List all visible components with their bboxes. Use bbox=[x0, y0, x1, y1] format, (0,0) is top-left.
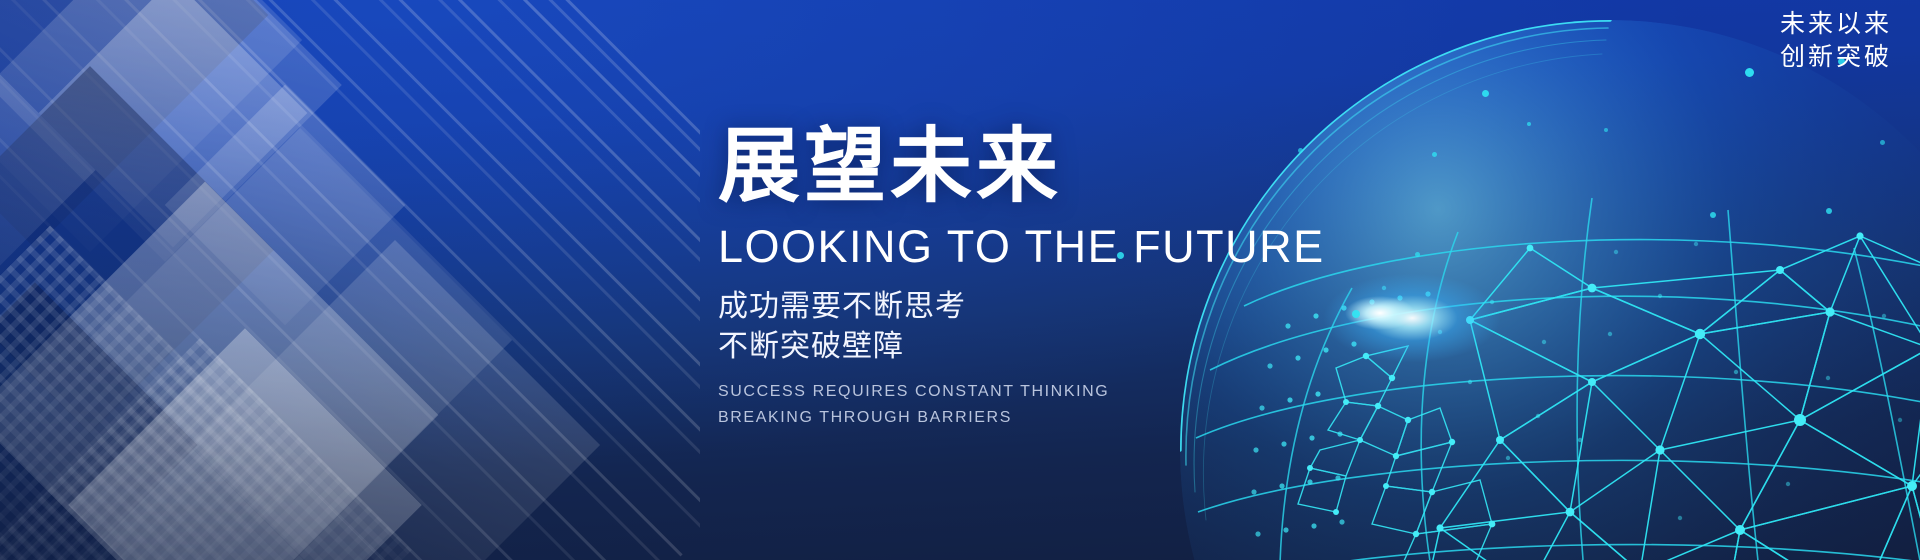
tagline-cn-line1: 成功需要不断思考 bbox=[718, 287, 1478, 327]
particle-dot bbox=[1710, 212, 1716, 218]
corner-slogan-line2: 创新突破 bbox=[1780, 41, 1892, 74]
tagline-en-block: SUCCESS REQUIRES CONSTANT THINKING BREAK… bbox=[718, 379, 1478, 432]
particle-dot bbox=[1527, 122, 1531, 126]
particle-dot bbox=[1880, 140, 1885, 145]
page-subtitle-en: LOOKING TO THE FUTURE bbox=[718, 224, 1478, 269]
corner-slogan-line1: 未来以来 bbox=[1780, 8, 1892, 41]
tagline-en-line2: BREAKING THROUGH BARRIERS bbox=[718, 405, 1478, 431]
particle-dot bbox=[1482, 90, 1489, 97]
corner-slogan: 未来以来 创新突破 bbox=[1780, 8, 1892, 74]
particle-dot bbox=[1826, 208, 1832, 214]
page-title: 展望未来 bbox=[718, 126, 1478, 208]
particle-dot bbox=[1745, 68, 1754, 77]
tagline-en-line1: SUCCESS REQUIRES CONSTANT THINKING bbox=[718, 379, 1478, 405]
tagline-cn-line2: 不断突破壁障 bbox=[718, 327, 1478, 367]
headline-block: 展望未来 LOOKING TO THE FUTURE 成功需要不断思考 不断突破… bbox=[718, 126, 1478, 432]
particle-dot bbox=[1604, 128, 1608, 132]
hero-banner: 未来以来 创新突破 bbox=[0, 0, 1920, 560]
left-geometric-pattern bbox=[0, 0, 700, 560]
